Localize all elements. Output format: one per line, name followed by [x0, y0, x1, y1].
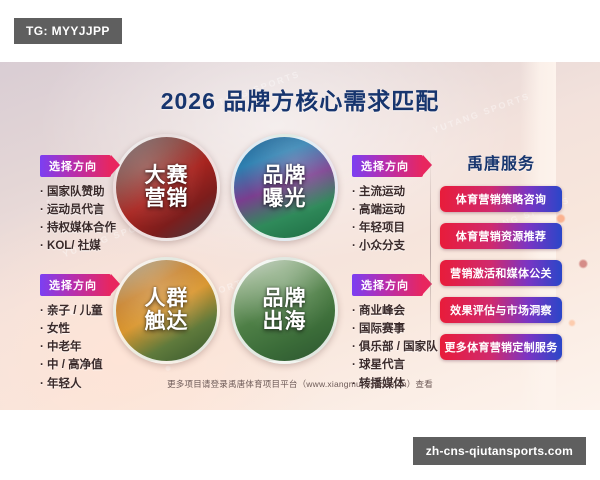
circle-label-line1: 人群: [145, 287, 189, 310]
list-item: 年轻项目: [352, 219, 448, 237]
service-pill[interactable]: 营销激活和媒体公关: [440, 260, 562, 286]
list-item: 持权媒体合作: [40, 219, 136, 237]
circle-label-line1: 品牌: [263, 287, 307, 310]
circle-label: 人群 触达: [145, 288, 189, 333]
direction-tag: 选择方向: [352, 155, 423, 177]
services-title: 禹唐服务: [440, 150, 562, 174]
vertical-divider: [430, 150, 431, 355]
list-item: 商业峰会: [352, 302, 448, 320]
direction-tag: 选择方向: [40, 274, 111, 296]
list-item: 亲子 / 儿童: [40, 302, 136, 320]
url-watermark-badge: zh-cns-qiutansports.com: [413, 437, 586, 465]
circle-label: 品牌 出海: [263, 288, 307, 333]
list-item: 国际赛事: [352, 320, 448, 338]
circle-label-line2: 触达: [145, 310, 189, 333]
list-item: 球星代言: [352, 356, 448, 374]
list-item: KOL/ 社媒: [40, 237, 136, 255]
circle-label: 品牌 曝光: [263, 165, 307, 210]
list-item: 国家队赞助: [40, 183, 136, 201]
list-item: 运动员代言: [40, 201, 136, 219]
list-item: 中 / 高净值: [40, 356, 136, 374]
service-pill[interactable]: 更多体育营销定制服务: [440, 334, 562, 360]
direction-block-top-right: 选择方向 主流运动 高端运动 年轻项目 小众分支: [352, 155, 448, 256]
direction-block-bottom-left: 选择方向 亲子 / 儿童 女性 中老年 中 / 高净值 年轻人: [40, 274, 136, 393]
service-pill[interactable]: 体育营销资源推荐: [440, 223, 562, 249]
list-item: 高端运动: [352, 201, 448, 219]
list-item: 小众分支: [352, 237, 448, 255]
circle-label-line2: 出海: [263, 310, 307, 333]
poster-image: YUTANG SPORTS YUTANG SPORTS YUTANG SPORT…: [0, 62, 600, 410]
circle-brand-exposure[interactable]: 品牌 曝光: [231, 134, 338, 241]
direction-list: 国家队赞助 运动员代言 持权媒体合作 KOL/ 社媒: [40, 183, 136, 256]
direction-tag: 选择方向: [352, 274, 423, 296]
poster-title: 2026 品牌方核心需求匹配: [0, 82, 600, 116]
list-item: 女性: [40, 320, 136, 338]
direction-tag: 选择方向: [40, 155, 111, 177]
list-item: 中老年: [40, 338, 136, 356]
service-pill[interactable]: 体育营销策略咨询: [440, 186, 562, 212]
services-panel: 禹唐服务 体育营销策略咨询 体育营销资源推荐 营销激活和媒体公关 效果评估与市场…: [440, 150, 562, 371]
list-item: 俱乐部 / 国家队: [352, 338, 448, 356]
tg-watermark-badge: TG: MYYJJPP: [14, 18, 122, 44]
screenshot-root: TG: MYYJJPP YUTANG SPORTS YUTANG SPORTS …: [0, 0, 600, 480]
circle-label-line2: 曝光: [263, 187, 307, 210]
service-pill[interactable]: 效果评估与市场洞察: [440, 297, 562, 323]
circle-label: 大赛 营销: [145, 165, 189, 210]
circle-brand-going-global[interactable]: 品牌 出海: [231, 257, 338, 364]
services-list: 体育营销策略咨询 体育营销资源推荐 营销激活和媒体公关 效果评估与市场洞察 更多…: [440, 186, 562, 360]
direction-block-top-left: 选择方向 国家队赞助 运动员代言 持权媒体合作 KOL/ 社媒: [40, 155, 136, 256]
direction-block-bottom-right: 选择方向 商业峰会 国际赛事 俱乐部 / 国家队 球星代言 转播媒体: [352, 274, 448, 393]
circle-label-line1: 品牌: [263, 164, 307, 187]
direction-list: 主流运动 高端运动 年轻项目 小众分支: [352, 183, 448, 256]
circle-label-line2: 营销: [145, 187, 189, 210]
list-item: 主流运动: [352, 183, 448, 201]
poster-footnote: 更多项目请登录禹唐体育项目平台（www.xiangmu.ytsports.cn）…: [0, 378, 600, 390]
circle-label-line1: 大赛: [145, 164, 189, 187]
